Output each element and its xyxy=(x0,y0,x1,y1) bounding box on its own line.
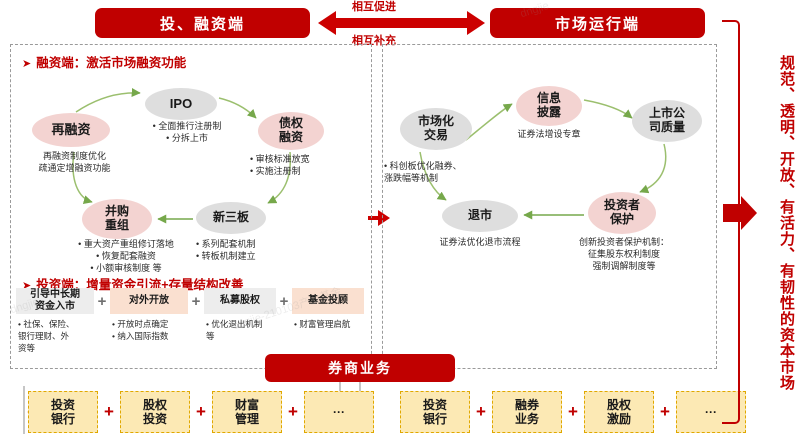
broker-business-banner: 券商业务 xyxy=(265,354,455,382)
note-refinancing: 再融资制度优化 疏通定增融资功能 xyxy=(22,150,127,174)
inv-col-fund-advisory: 基金投顾 • 财富管理启航 xyxy=(292,288,364,362)
heading-funding-label: 融资端：激活市场融资功能 xyxy=(36,56,186,70)
inv-cell-0: • 社保、保险、 银行理财、外 资等 xyxy=(16,314,94,355)
note-ipo: • 全面推行注册制 • 分拆上市 xyxy=(128,120,246,144)
heading-funding-side: ➤融资端：激活市场融资功能 xyxy=(22,52,186,71)
node-debt-financing: 债权 融资 xyxy=(258,112,324,150)
node-delisting: 退市 xyxy=(442,200,518,232)
biz-box-equity-investment: 股权 投资 xyxy=(120,391,190,433)
broker-business-row-right: 投资 银行 + 融券 业务 + 股权 激励 + ··· xyxy=(400,390,746,434)
node-market-trading: 市场化 交易 xyxy=(400,108,472,150)
biz-box-equity-incentive: 股权 激励 xyxy=(584,391,654,433)
outcome-bracket xyxy=(722,20,740,424)
header-right-arrowhead xyxy=(452,11,485,35)
inv-plus-0: + xyxy=(94,288,110,362)
inv-plus-2: + xyxy=(276,288,292,362)
node-information-disclosure: 信息 披露 xyxy=(516,86,582,126)
note-information-disclosure: 证券法增设专章 xyxy=(490,128,608,140)
inv-col-long-term-funds: 引导中长期 资金入市 • 社保、保险、 银行理财、外 资等 xyxy=(16,288,94,362)
inv-plus-1: + xyxy=(188,288,204,362)
node-ipo: IPO xyxy=(145,88,217,120)
relation-label-promote: 相互促进 xyxy=(352,0,396,14)
biz-box-wealth-management: 财富 管理 xyxy=(212,391,282,433)
note-delisting: 证券法优化退市流程 xyxy=(420,236,540,248)
biz-box-more-left: ··· xyxy=(304,391,374,433)
biz-plus-r2: + xyxy=(654,402,676,422)
biz-box-margin-securities-lending: 融券 业务 xyxy=(492,391,562,433)
inv-head-1: 对外开放 xyxy=(110,288,188,314)
header-title-market-operation: 市场运行端 xyxy=(490,8,705,38)
node-refinancing: 再融资 xyxy=(32,113,110,147)
header-left-arrowhead xyxy=(318,11,352,35)
biz-plus-l2: + xyxy=(282,402,304,422)
inv-head-2: 私募股权 xyxy=(204,288,276,314)
outcome-slogan: 规范、透明、开放、有活力、有韧性的资本市场 xyxy=(762,18,794,428)
node-investor-protection: 投资者 保护 xyxy=(588,192,656,234)
node-listed-company-quality: 上市公 司质量 xyxy=(632,100,702,142)
header-title-investment-financing: 投、融资端 xyxy=(95,8,310,38)
node-neeq: 新三板 xyxy=(196,202,266,234)
biz-box-investment-banking-left: 投资 银行 xyxy=(28,391,98,433)
biz-plus-l1: + xyxy=(190,402,212,422)
biz-box-investment-banking-right: 投资 银行 xyxy=(400,391,470,433)
node-merger-restructuring: 并购 重组 xyxy=(82,199,152,239)
inv-cell-3: • 财富管理启航 xyxy=(292,314,364,331)
biz-plus-r1: + xyxy=(562,402,584,422)
note-market-trading: • 科创板优化融券、 涨跌幅等机制 xyxy=(384,160,502,184)
note-neeq: • 系列配套机制 • 转板机制建立 xyxy=(196,238,308,262)
inv-col-private-equity: 私募股权 • 优化退出机制 等 xyxy=(204,288,276,362)
inv-cell-2: • 优化退出机制 等 xyxy=(204,314,276,343)
note-investor-protection: 创新投资者保护机制： 征集股东权利制度 强制调解制度等 xyxy=(550,236,698,272)
biz-plus-r0: + xyxy=(470,402,492,422)
note-debt-financing: • 审核标准放宽 • 实施注册制 xyxy=(250,153,342,177)
inv-cell-1: • 开放时点确定 • 纳入国际指数 xyxy=(110,314,188,343)
biz-plus-l0: + xyxy=(98,402,120,422)
bullet-arrow-icon: ➤ xyxy=(22,58,31,70)
inv-col-opening-up: 对外开放 • 开放时点确定 • 纳入国际指数 xyxy=(110,288,188,362)
investment-measures-table: 引导中长期 资金入市 • 社保、保险、 银行理财、外 资等 + 对外开放 • 开… xyxy=(16,288,366,362)
inv-head-3: 基金投顾 xyxy=(292,288,364,314)
note-merger-restructuring: • 重大资产重组修订落地 • 恢复配套融资 • 小额审核制度 等 xyxy=(56,238,196,274)
broker-business-row-left: 投资 银行 + 股权 投资 + 财富 管理 + ··· xyxy=(28,390,374,434)
inv-head-0: 引导中长期 资金入市 xyxy=(16,288,94,314)
